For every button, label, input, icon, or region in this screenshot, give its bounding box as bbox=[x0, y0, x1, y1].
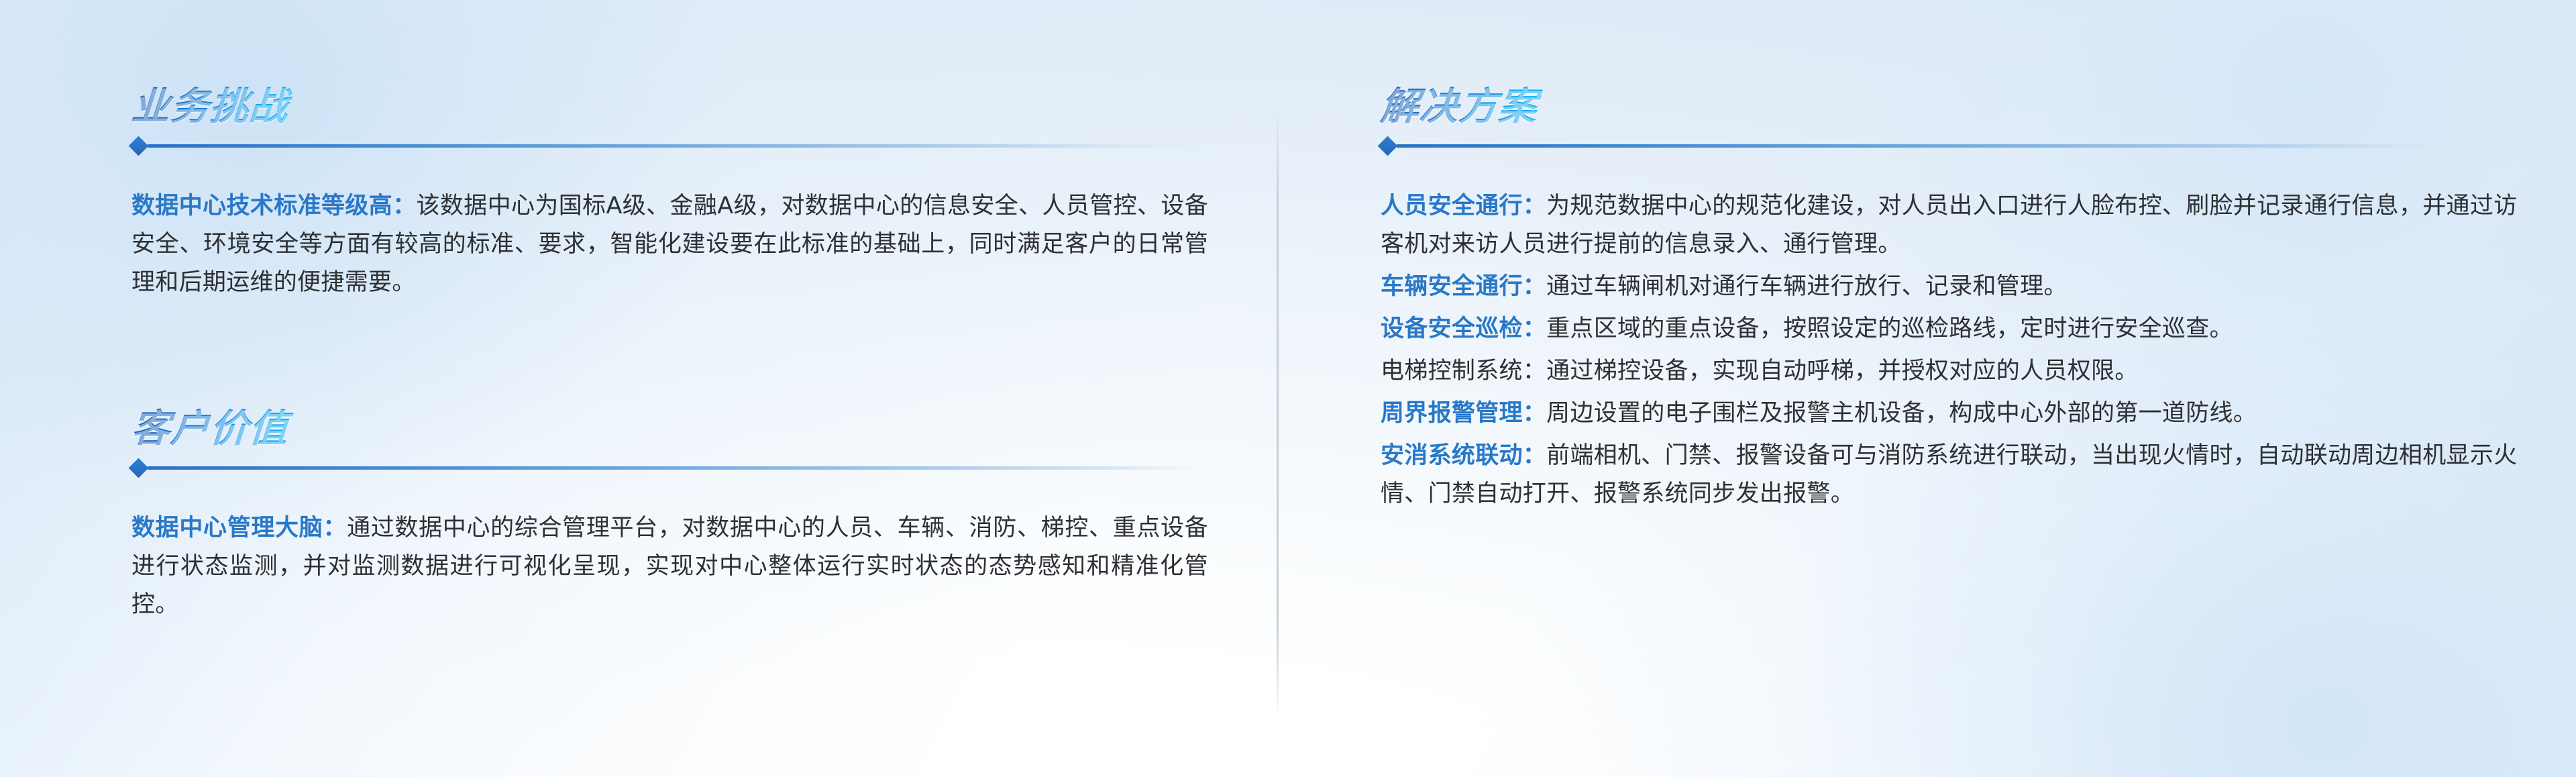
column-divider bbox=[1277, 115, 1279, 711]
solution-item-body: 为规范数据中心的规范化建设，对人员出入口进行人脸布控、刷脸并记录通行信息，并通过… bbox=[1381, 193, 2517, 258]
slide-canvas: 业务挑战 数据中心技术标准等级高：该数据中心为国标A级、金融A级，对数据中心的信… bbox=[0, 0, 2576, 777]
solution-item-body: 通过车辆闸机对通行车辆进行放行、记录和管理。 bbox=[1546, 273, 2068, 300]
section-heading-business-challenge: 业务挑战 bbox=[131, 86, 1218, 158]
section-solution: 解决方案 人员安全通行：为规范数据中心的规范化建设，对人员出入口进行人脸布控、刷… bbox=[1381, 86, 2521, 513]
heading-rule-line bbox=[148, 144, 1201, 148]
solution-item-lead: 电梯控制系统： bbox=[1381, 358, 1546, 384]
solution-item-lead: 车辆安全通行： bbox=[1381, 273, 1546, 300]
solution-item: 周界报警管理：周边设置的电子围栏及报警主机设备，构成中心外部的第一道防线。 bbox=[1381, 395, 2521, 433]
diamond-bullet-icon bbox=[129, 458, 149, 478]
section-heading-customer-value: 客户价值 bbox=[131, 408, 1218, 480]
section-business-challenge: 业务挑战 数据中心技术标准等级高：该数据中心为国标A级、金融A级，对数据中心的信… bbox=[131, 86, 1218, 325]
heading-rule-line bbox=[148, 466, 1201, 470]
solution-item-body: 重点区域的重点设备，按照设定的巡检路线，定时进行安全巡查。 bbox=[1546, 315, 2233, 342]
heading-underline bbox=[131, 134, 1218, 158]
solution-item-body: 通过梯控设备，实现自动呼梯，并授权对应的人员权限。 bbox=[1546, 358, 2139, 384]
paragraph-lead-label: 数据中心管理大脑： bbox=[131, 515, 347, 541]
solution-item-body: 前端相机、门禁、报警设备可与消防系统进行联动，当出现火情时，自动联动周边相机显示… bbox=[1381, 442, 2517, 507]
solution-item: 车辆安全通行：通过车辆闸机对通行车辆进行放行、记录和管理。 bbox=[1381, 268, 2521, 306]
section-customer-value: 客户价值 数据中心管理大脑：通过数据中心的综合管理平台，对数据中心的人员、车辆、… bbox=[131, 408, 1218, 647]
slide-content: 业务挑战 数据中心技术标准等级高：该数据中心为国标A级、金融A级，对数据中心的信… bbox=[0, 0, 2576, 777]
solution-item: 人员安全通行：为规范数据中心的规范化建设，对人员出入口进行人脸布控、刷脸并记录通… bbox=[1381, 187, 2521, 264]
diamond-bullet-icon bbox=[1378, 136, 1398, 156]
solution-item-list: 人员安全通行：为规范数据中心的规范化建设，对人员出入口进行人脸布控、刷脸并记录通… bbox=[1381, 187, 2521, 513]
paragraph-business-challenge: 数据中心技术标准等级高：该数据中心为国标A级、金融A级，对数据中心的信息安全、人… bbox=[131, 187, 1208, 302]
solution-item-lead: 周界报警管理： bbox=[1381, 400, 1546, 427]
solution-item-lead: 安消系统联动： bbox=[1381, 442, 1546, 469]
paragraph-lead-label: 数据中心技术标准等级高： bbox=[131, 193, 416, 219]
section-title-text: 解决方案 bbox=[1379, 86, 1543, 129]
heading-rule-line bbox=[1397, 144, 2510, 148]
solution-item-lead: 设备安全巡检： bbox=[1381, 315, 1546, 342]
solution-item: 设备安全巡检：重点区域的重点设备，按照设定的巡检路线，定时进行安全巡查。 bbox=[1381, 310, 2521, 348]
solution-item: 电梯控制系统：通过梯控设备，实现自动呼梯，并授权对应的人员权限。 bbox=[1381, 352, 2521, 391]
heading-underline bbox=[1381, 134, 2521, 158]
section-heading-solution: 解决方案 bbox=[1381, 86, 2521, 158]
section-title-text: 业务挑战 bbox=[130, 86, 294, 129]
solution-item-body: 周边设置的电子围栏及报警主机设备，构成中心外部的第一道防线。 bbox=[1546, 400, 2257, 427]
solution-item-lead: 人员安全通行： bbox=[1381, 193, 1546, 219]
heading-underline bbox=[131, 456, 1218, 480]
section-title-text: 客户价值 bbox=[130, 408, 294, 451]
paragraph-customer-value: 数据中心管理大脑：通过数据中心的综合管理平台，对数据中心的人员、车辆、消防、梯控… bbox=[131, 509, 1208, 624]
diamond-bullet-icon bbox=[129, 136, 149, 156]
solution-item: 安消系统联动：前端相机、门禁、报警设备可与消防系统进行联动，当出现火情时，自动联… bbox=[1381, 437, 2521, 513]
